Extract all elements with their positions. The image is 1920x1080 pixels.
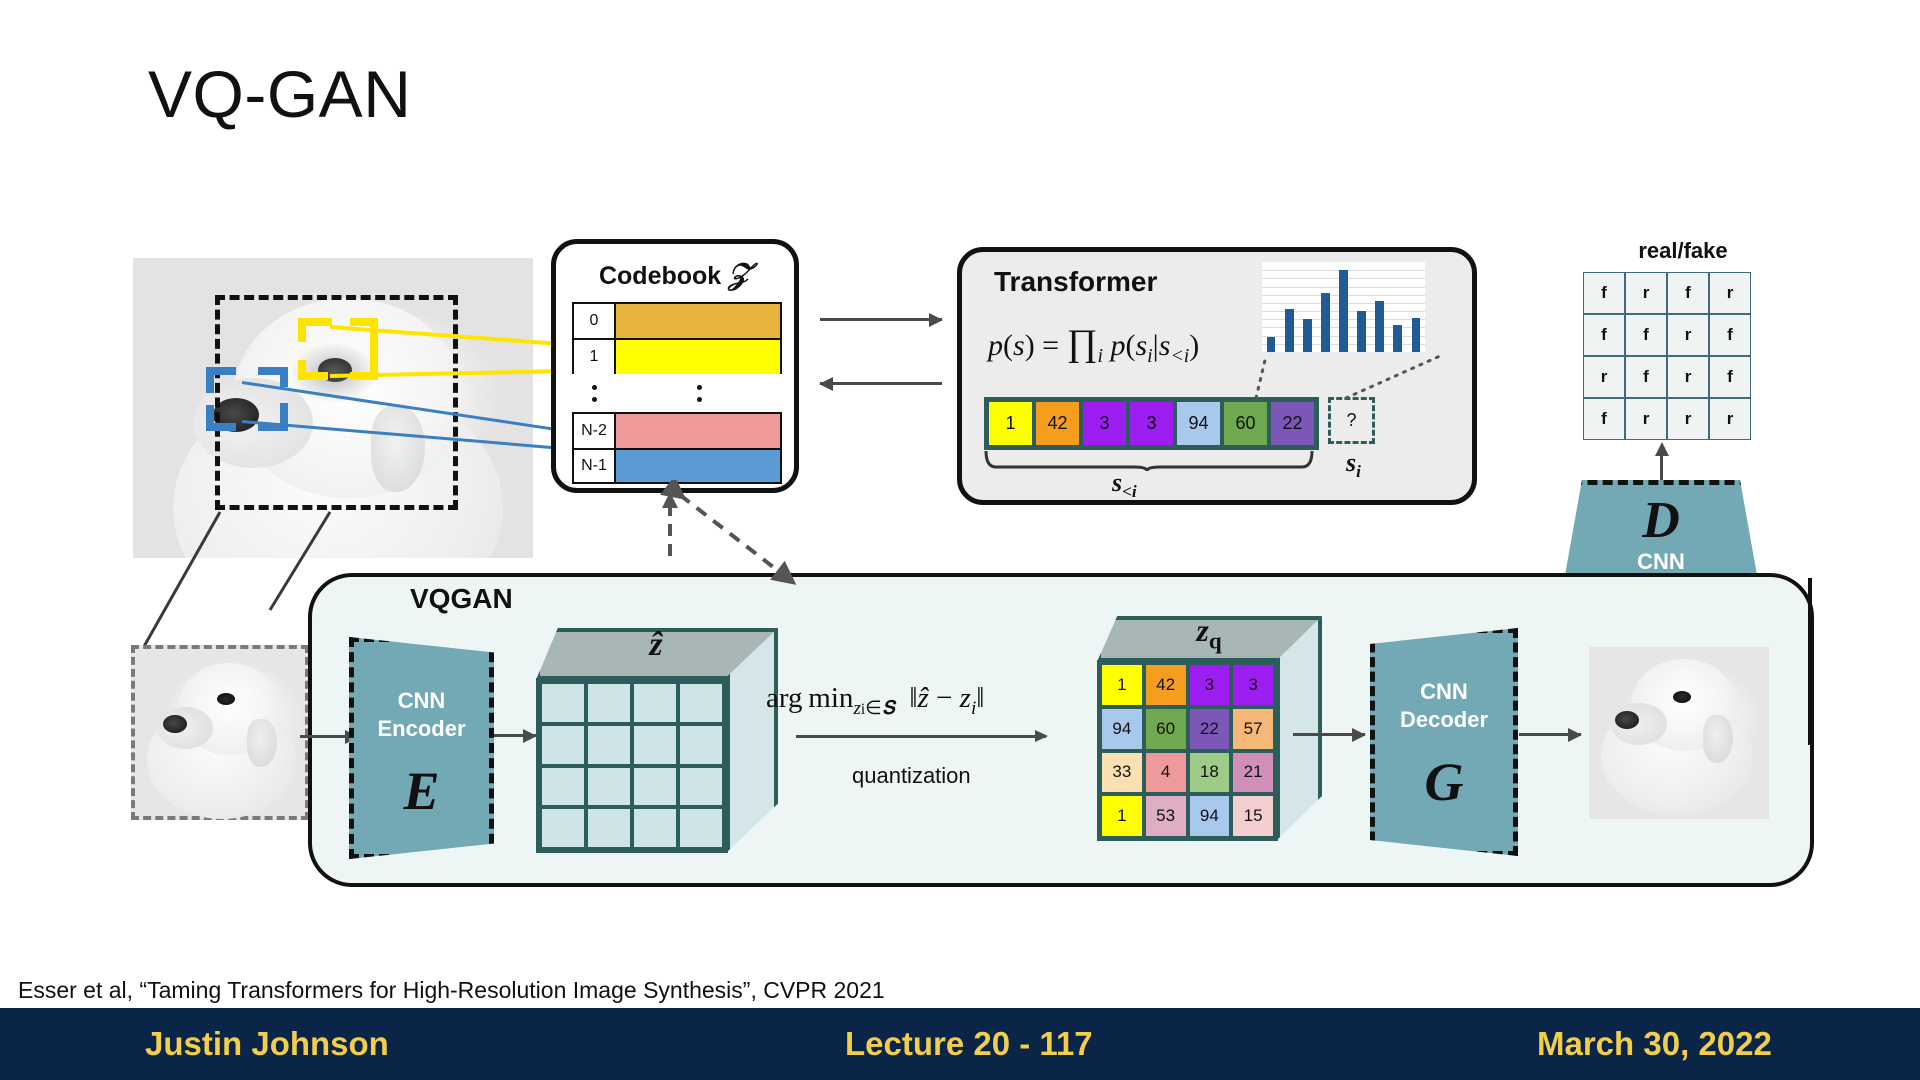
zq-cell: 18 (1188, 751, 1232, 795)
footer-author: Justin Johnson (145, 1025, 389, 1063)
discriminator-label-line1: CNN (1562, 549, 1760, 574)
footer-date: March 30, 2022 (1537, 1025, 1772, 1063)
realfake-cell: r (1667, 398, 1709, 440)
page-title: VQ-GAN (148, 56, 411, 132)
zq-cell: 3 (1188, 663, 1232, 707)
transformer-title: Transformer (994, 266, 1157, 298)
encoder-input-thumbnail (131, 645, 309, 820)
token-cell[interactable]: 60 (1222, 400, 1269, 447)
codebook-index: N-1 (572, 448, 616, 484)
decoder-label-line1: CNN (1375, 679, 1513, 704)
histogram-bar (1267, 337, 1276, 352)
histogram-bar (1375, 301, 1384, 352)
realfake-cell: r (1583, 356, 1625, 398)
discriminator-glyph: D (1562, 491, 1760, 550)
vqgan-label: VQGAN (410, 583, 513, 615)
zq-cell: 33 (1100, 751, 1144, 795)
slide-root: VQ-GAN (0, 0, 1920, 1080)
realfake-cell: f (1625, 356, 1667, 398)
arrow-zq-to-decoder (1293, 733, 1365, 736)
realfake-title: real/fake (1598, 238, 1768, 264)
realfake-cell: f (1583, 398, 1625, 440)
token-cell[interactable]: 3 (1128, 400, 1175, 447)
quantization-formula: arg minzi∈𝐒 ‖ẑ − zi‖ (766, 682, 984, 720)
codebook-panel: Codebook 𝒵 0 1 N-2 N-1 (551, 239, 799, 493)
encoder-label-line1: CNN (354, 688, 489, 713)
zq-quantized-cube: 1 42 3 3 94 60 22 57 33 4 18 21 1 53 94 … (1097, 616, 1322, 841)
codebook-symbol: 𝒵 (728, 258, 751, 291)
token-cell[interactable]: 1 (987, 400, 1034, 447)
probability-histogram-chart (1262, 262, 1425, 352)
token-cell[interactable]: 94 (1175, 400, 1222, 447)
decoder-output-image (1589, 647, 1769, 819)
token-cell[interactable]: 22 (1269, 400, 1316, 447)
token-cell[interactable]: 42 (1034, 400, 1081, 447)
realfake-cell: f (1667, 272, 1709, 314)
realfake-cell: f (1625, 314, 1667, 356)
codebook-vector-bar (616, 448, 782, 484)
realfake-cell: r (1625, 272, 1667, 314)
realfake-cell: r (1667, 356, 1709, 398)
zq-cell: 3 (1231, 663, 1275, 707)
zq-cell: 94 (1188, 794, 1232, 838)
realfake-cell: f (1583, 272, 1625, 314)
histogram-bar (1412, 318, 1421, 352)
token-sequence-strip: 1 42 3 3 94 60 22 ? (984, 397, 1375, 450)
zq-cell: 60 (1144, 707, 1188, 751)
transformer-formula: p(s) = ∏i p(si|s<i) (988, 322, 1199, 368)
codebook-vector-bar (616, 302, 782, 338)
realfake-cell: f (1709, 356, 1751, 398)
zhat-cube-front-grid (536, 678, 728, 853)
realfake-cell: r (1667, 314, 1709, 356)
realfake-cell: f (1583, 314, 1625, 356)
histogram-bar (1357, 311, 1366, 352)
footer-bar: Justin Johnson Lecture 20 - 117 March 30… (0, 1008, 1920, 1080)
zq-label: zq (1149, 612, 1269, 654)
zq-cube-front-grid: 1 42 3 3 94 60 22 57 33 4 18 21 1 53 94 … (1097, 660, 1278, 841)
token-cell-unknown[interactable]: ? (1328, 397, 1375, 444)
encoder-label-line2: Encoder (354, 716, 489, 741)
codebook-vector-bar (616, 338, 782, 374)
codebook-ellipsis (572, 374, 782, 412)
zq-cell: 94 (1100, 707, 1144, 751)
codebook-row[interactable]: N-2 (572, 412, 782, 448)
quantization-arrow (796, 735, 1046, 738)
realfake-cell: r (1709, 272, 1751, 314)
zhat-label: ẑ (596, 626, 716, 664)
zq-cell: 53 (1144, 794, 1188, 838)
histogram-bar (1321, 293, 1330, 352)
realfake-cell: f (1709, 314, 1751, 356)
codebook-title: Codebook 𝒵 (556, 258, 794, 292)
histogram-bar (1393, 325, 1402, 352)
label-current-token: si (1346, 448, 1361, 482)
codebook-row[interactable]: N-1 (572, 448, 782, 484)
funnel-dotted-lines (1248, 352, 1448, 404)
transformer-panel: Transformer p(s) = ∏i p(si|s<i) 1 42 3 3… (957, 247, 1477, 505)
histogram-bar (1303, 319, 1312, 352)
token-cell[interactable]: 3 (1081, 400, 1128, 447)
decoder-glyph: G (1375, 751, 1513, 813)
zq-cell: 15 (1231, 794, 1275, 838)
arrow-transformer-to-codebook (820, 382, 942, 385)
zq-cell: 22 (1188, 707, 1232, 751)
codebook-index: 1 (572, 338, 616, 374)
zq-cell: 1 (1100, 663, 1144, 707)
zq-cell: 42 (1144, 663, 1188, 707)
arrow-codebook-to-transformer (820, 318, 942, 321)
codebook-row[interactable]: 1 (572, 338, 782, 374)
cnn-encoder-block: CNN Encoder E (349, 637, 494, 859)
histogram-bar (1339, 270, 1348, 352)
footer-lecture-number: Lecture 20 - 117 (845, 1025, 1093, 1063)
codebook-title-text: Codebook (599, 262, 721, 290)
decoder-label-line2: Decoder (1375, 707, 1513, 732)
zq-cell: 57 (1231, 707, 1275, 751)
realfake-grid: f r f r f f r f r f r f f r r r (1583, 272, 1751, 440)
zq-cell: 4 (1144, 751, 1188, 795)
quantization-caption: quantization (852, 763, 971, 789)
zhat-feature-cube: ẑ (536, 628, 778, 853)
token-context-group: 1 42 3 3 94 60 22 (984, 397, 1319, 450)
citation-text: Esser et al, “Taming Transformers for Hi… (18, 977, 885, 1004)
arrow-decoder-to-output (1519, 733, 1581, 736)
codebook-row[interactable]: 0 (572, 302, 782, 338)
codebook-table: 0 1 N-2 N-1 (572, 302, 782, 484)
arrow-encoder-to-zhat (494, 734, 536, 737)
codebook-index: 0 (572, 302, 616, 338)
label-context-tokens: s<i (1112, 468, 1137, 502)
codebook-vector-bar (616, 412, 782, 448)
codebook-index: N-2 (572, 412, 616, 448)
zq-cell: 1 (1100, 794, 1144, 838)
context-brace (984, 449, 1314, 471)
realfake-cell: r (1625, 398, 1667, 440)
zq-cell: 21 (1231, 751, 1275, 795)
cnn-decoder-block: CNN Decoder G (1370, 628, 1518, 856)
histogram-bar (1285, 309, 1294, 352)
arrow-codebook-upward-dashed (640, 490, 700, 560)
encoder-glyph: E (354, 760, 489, 822)
arrow-discriminator-to-realfake (1660, 455, 1663, 483)
realfake-cell: r (1709, 398, 1751, 440)
